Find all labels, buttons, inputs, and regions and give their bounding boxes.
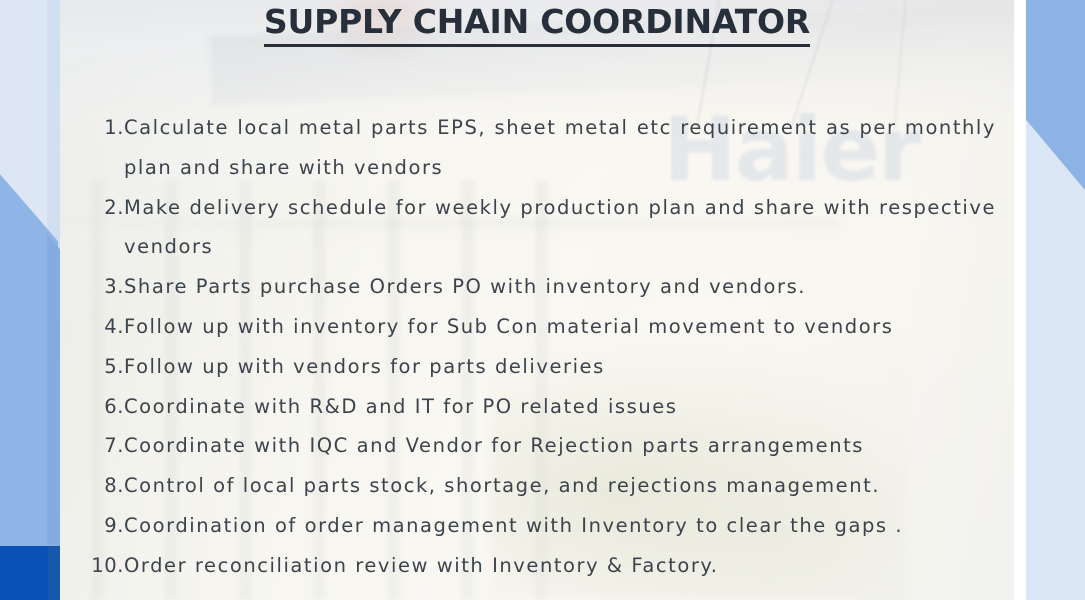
- page-title: SUPPLY CHAIN COORDINATOR: [60, 2, 1014, 41]
- list-item-number: 7.: [60, 426, 124, 466]
- right-decoration-gap: [1014, 0, 1026, 600]
- list-item: 1.Calculate local metal parts EPS, sheet…: [60, 108, 1014, 188]
- list-item-number: 1.: [60, 108, 124, 148]
- list-item-text: Follow up with inventory for Sub Con mat…: [124, 307, 1014, 347]
- list-item: 7.Coordinate with IQC and Vendor for Rej…: [60, 426, 1014, 466]
- list-item: 3.Share Parts purchase Orders PO with in…: [60, 267, 1014, 307]
- list-item-number: 4.: [60, 307, 124, 347]
- slide-canvas: Haier SUPPLY CHAIN COORDINATOR 1.Calcula…: [0, 0, 1085, 600]
- list-item: 10.Order reconciliation review with Inve…: [60, 546, 1014, 586]
- list-item-number: 9.: [60, 506, 124, 546]
- list-item-number: 5.: [60, 347, 124, 387]
- list-item-text: Control of local parts stock, shortage, …: [124, 466, 1014, 506]
- list-item-text: Make delivery schedule for weekly produc…: [124, 188, 1014, 268]
- slide-content-card: Haier SUPPLY CHAIN COORDINATOR 1.Calcula…: [60, 0, 1014, 600]
- responsibility-list: 1.Calculate local metal parts EPS, sheet…: [60, 108, 1014, 586]
- left-decoration-dark-block: [0, 546, 48, 600]
- left-decoration-dark-edge: [48, 546, 60, 600]
- list-item-text: Order reconciliation review with Invento…: [124, 546, 1014, 586]
- list-item-number: 3.: [60, 267, 124, 307]
- list-item: 9.Coordination of order management with …: [60, 506, 1014, 546]
- list-item: 6.Coordinate with R&D and IT for PO rela…: [60, 387, 1014, 427]
- list-item-text: Coordination of order management with In…: [124, 506, 1014, 546]
- list-item: 4.Follow up with inventory for Sub Con m…: [60, 307, 1014, 347]
- list-item: 5.Follow up with vendors for parts deliv…: [60, 347, 1014, 387]
- list-item-number: 2.: [60, 188, 124, 228]
- list-item-number: 10.: [60, 546, 124, 586]
- list-item-text: Coordinate with IQC and Vendor for Rejec…: [124, 426, 1014, 466]
- list-item-number: 8.: [60, 466, 124, 506]
- list-item-text: Follow up with vendors for parts deliver…: [124, 347, 1014, 387]
- list-item: 8.Control of local parts stock, shortage…: [60, 466, 1014, 506]
- list-item-text: Share Parts purchase Orders PO with inve…: [124, 267, 1014, 307]
- list-item-text: Calculate local metal parts EPS, sheet m…: [124, 108, 1014, 188]
- list-item: 2.Make delivery schedule for weekly prod…: [60, 188, 1014, 268]
- list-item-number: 6.: [60, 387, 124, 427]
- slide-content: SUPPLY CHAIN COORDINATOR 1.Calculate loc…: [60, 0, 1014, 600]
- list-item-text: Coordinate with R&D and IT for PO relate…: [124, 387, 1014, 427]
- page-title-text: SUPPLY CHAIN COORDINATOR: [264, 2, 810, 47]
